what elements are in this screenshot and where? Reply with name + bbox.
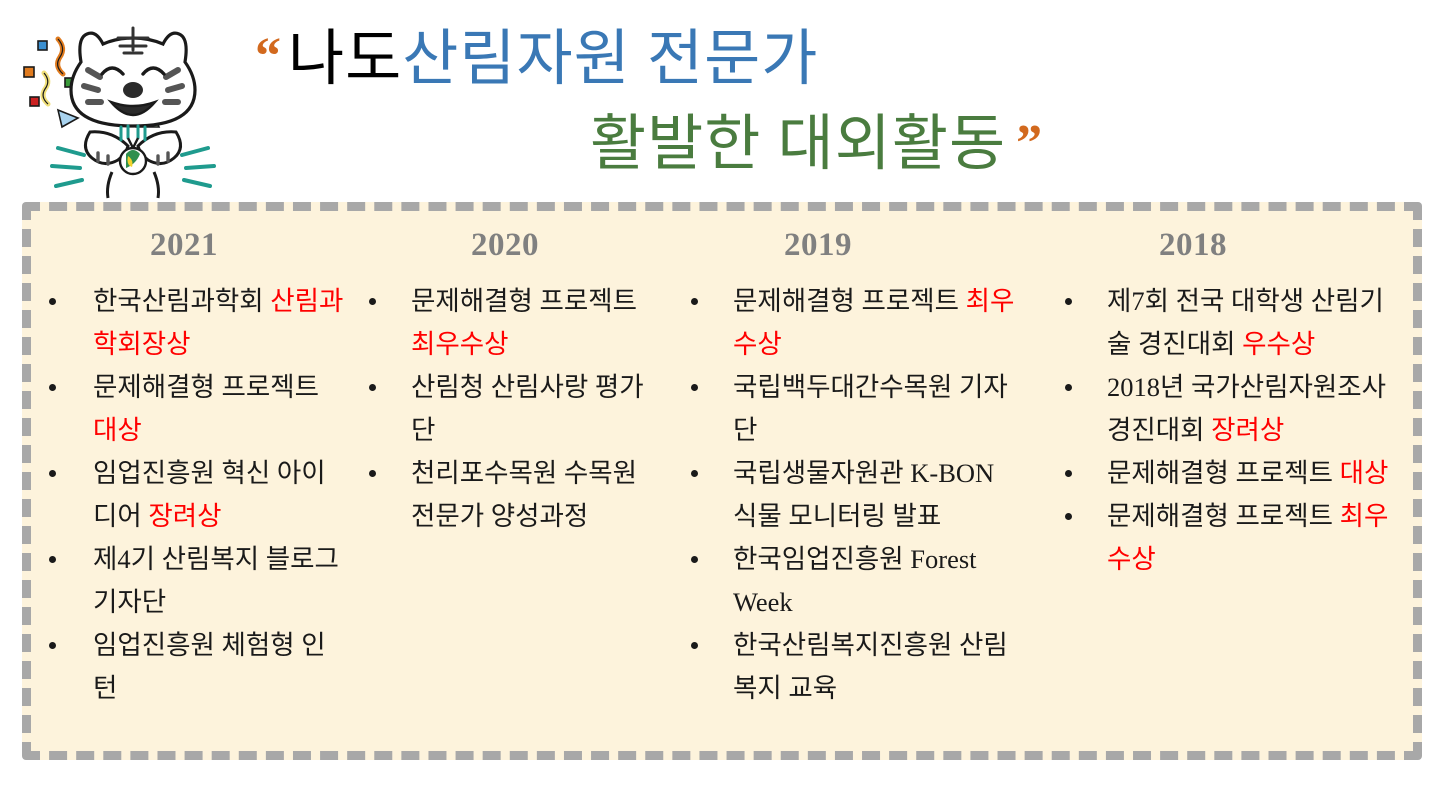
year-column-2020: 2020문제해결형 프로젝트 최우수상산림청 산림사랑 평가단천리포수목원 수목… bbox=[353, 211, 671, 538]
item-text: 문제해결형 프로젝트 bbox=[411, 286, 637, 316]
bullet-dot-icon bbox=[691, 556, 698, 563]
title-line-2: 활발한 대외활동” bbox=[590, 114, 1043, 175]
year-columns-container: 2021한국산림과학회 산림과학회장상문제해결형 프로젝트 대상임업진흥원 혁신… bbox=[31, 211, 1413, 751]
item-text: 한국산림복지진흥원 산림복지 교육 bbox=[733, 630, 1008, 703]
achievement-list: 제7회 전국 대학생 산림기술 경진대회 우수상2018년 국가산림자원조사 경… bbox=[1043, 280, 1413, 581]
title-line-1: “나도산림자원 전문가 bbox=[255, 29, 818, 90]
bullet-dot-icon bbox=[1065, 513, 1072, 520]
award-highlight: 대상 bbox=[93, 415, 142, 445]
bullet-dot-icon bbox=[691, 298, 698, 305]
bullet-dot-icon bbox=[49, 470, 56, 477]
item-text: 국립생물자원관 K-BON 식물 모니터링 발표 bbox=[733, 458, 994, 531]
award-highlight: 장려상 bbox=[1211, 415, 1284, 445]
list-item: 임업진흥원 혁신 아이디어 장려상 bbox=[31, 452, 353, 538]
cheering-tiger-mascot-icon bbox=[8, 14, 258, 204]
list-item: 국립생물자원관 K-BON 식물 모니터링 발표 bbox=[671, 452, 1043, 538]
bullet-dot-icon bbox=[1065, 298, 1072, 305]
bullet-dot-icon bbox=[49, 556, 56, 563]
bullet-dot-icon bbox=[691, 384, 698, 391]
list-item: 문제해결형 프로젝트 대상 bbox=[1043, 452, 1413, 495]
achievement-list: 문제해결형 프로젝트 최우수상국립백두대간수목원 기자단국립생물자원관 K-BO… bbox=[671, 280, 1043, 710]
list-item: 천리포수목원 수목원 전문가 양성과정 bbox=[353, 452, 671, 538]
item-text: 문제해결형 프로젝트 bbox=[1107, 501, 1340, 531]
year-heading-2019: 2019 bbox=[671, 227, 1043, 264]
list-item: 2018년 국가산림자원조사 경진대회 장려상 bbox=[1043, 366, 1413, 452]
item-text: 한국임업진흥원 Forest Week bbox=[733, 544, 977, 617]
quote-open-icon: “ bbox=[255, 28, 282, 85]
item-text: 문제해결형 프로젝트 bbox=[93, 372, 319, 402]
title-plain-text: 나도 bbox=[288, 26, 402, 93]
year-column-2021: 2021한국산림과학회 산림과학회장상문제해결형 프로젝트 대상임업진흥원 혁신… bbox=[31, 211, 353, 710]
bullet-dot-icon bbox=[1065, 470, 1072, 477]
bullet-dot-icon bbox=[49, 384, 56, 391]
bullet-dot-icon bbox=[1065, 384, 1072, 391]
list-item: 제4기 산림복지 블로그기자단 bbox=[31, 538, 353, 624]
list-item: 제7회 전국 대학생 산림기술 경진대회 우수상 bbox=[1043, 280, 1413, 366]
bullet-dot-icon bbox=[691, 470, 698, 477]
list-item: 문제해결형 프로젝트 최우수상 bbox=[671, 280, 1043, 366]
item-text: 국립백두대간수목원 기자단 bbox=[733, 372, 1008, 445]
header-banner: “나도산림자원 전문가 활발한 대외활동” bbox=[0, 0, 1438, 200]
title-accent-green: 활발한 대외활동 bbox=[590, 111, 1006, 178]
year-column-2019: 2019문제해결형 프로젝트 최우수상국립백두대간수목원 기자단국립생물자원관 … bbox=[671, 211, 1043, 710]
title-block: “나도산림자원 전문가 활발한 대외활동” bbox=[255, 12, 1435, 197]
bullet-dot-icon bbox=[49, 642, 56, 649]
year-heading-2021: 2021 bbox=[31, 227, 353, 264]
list-item: 문제해결형 프로젝트 최우수상 bbox=[1043, 495, 1413, 581]
item-text: 한국산림과학회 bbox=[93, 286, 270, 316]
bullet-dot-icon bbox=[369, 384, 376, 391]
list-item: 한국산림과학회 산림과학회장상 bbox=[31, 280, 353, 366]
bullet-dot-icon bbox=[369, 298, 376, 305]
year-column-2018: 2018제7회 전국 대학생 산림기술 경진대회 우수상2018년 국가산림자원… bbox=[1043, 211, 1413, 581]
bullet-dot-icon bbox=[49, 298, 56, 305]
award-highlight: 최우수상 bbox=[411, 329, 509, 359]
achievement-list: 문제해결형 프로젝트 최우수상산림청 산림사랑 평가단천리포수목원 수목원 전문… bbox=[353, 280, 671, 538]
award-highlight: 우수상 bbox=[1242, 329, 1315, 359]
bullet-dot-icon bbox=[691, 642, 698, 649]
list-item: 한국산림복지진흥원 산림복지 교육 bbox=[671, 624, 1043, 710]
bullet-dot-icon bbox=[369, 470, 376, 477]
list-item: 문제해결형 프로젝트 최우수상 bbox=[353, 280, 671, 366]
quote-close-icon: ” bbox=[1016, 115, 1043, 172]
item-text: 산림청 산림사랑 평가단 bbox=[411, 372, 644, 445]
year-heading-2018: 2018 bbox=[1043, 227, 1413, 264]
list-item: 임업진흥원 체험형 인턴 bbox=[31, 624, 353, 710]
list-item: 국립백두대간수목원 기자단 bbox=[671, 366, 1043, 452]
list-item: 산림청 산림사랑 평가단 bbox=[353, 366, 671, 452]
achievements-panel: 2021한국산림과학회 산림과학회장상문제해결형 프로젝트 대상임업진흥원 혁신… bbox=[22, 202, 1422, 760]
list-item: 한국임업진흥원 Forest Week bbox=[671, 538, 1043, 624]
title-accent-blue: 산림자원 전문가 bbox=[402, 26, 818, 93]
item-text: 제4기 산림복지 블로그기자단 bbox=[93, 544, 339, 617]
item-text: 문제해결형 프로젝트 bbox=[1107, 458, 1340, 488]
item-text: 천리포수목원 수목원 전문가 양성과정 bbox=[411, 458, 637, 531]
item-text: 임업진흥원 체험형 인턴 bbox=[93, 630, 326, 703]
year-heading-2020: 2020 bbox=[353, 227, 671, 264]
item-text: 문제해결형 프로젝트 bbox=[733, 286, 966, 316]
award-highlight: 대상 bbox=[1340, 458, 1389, 488]
list-item: 문제해결형 프로젝트 대상 bbox=[31, 366, 353, 452]
award-highlight: 장려상 bbox=[148, 501, 221, 531]
achievement-list: 한국산림과학회 산림과학회장상문제해결형 프로젝트 대상임업진흥원 혁신 아이디… bbox=[31, 280, 353, 710]
